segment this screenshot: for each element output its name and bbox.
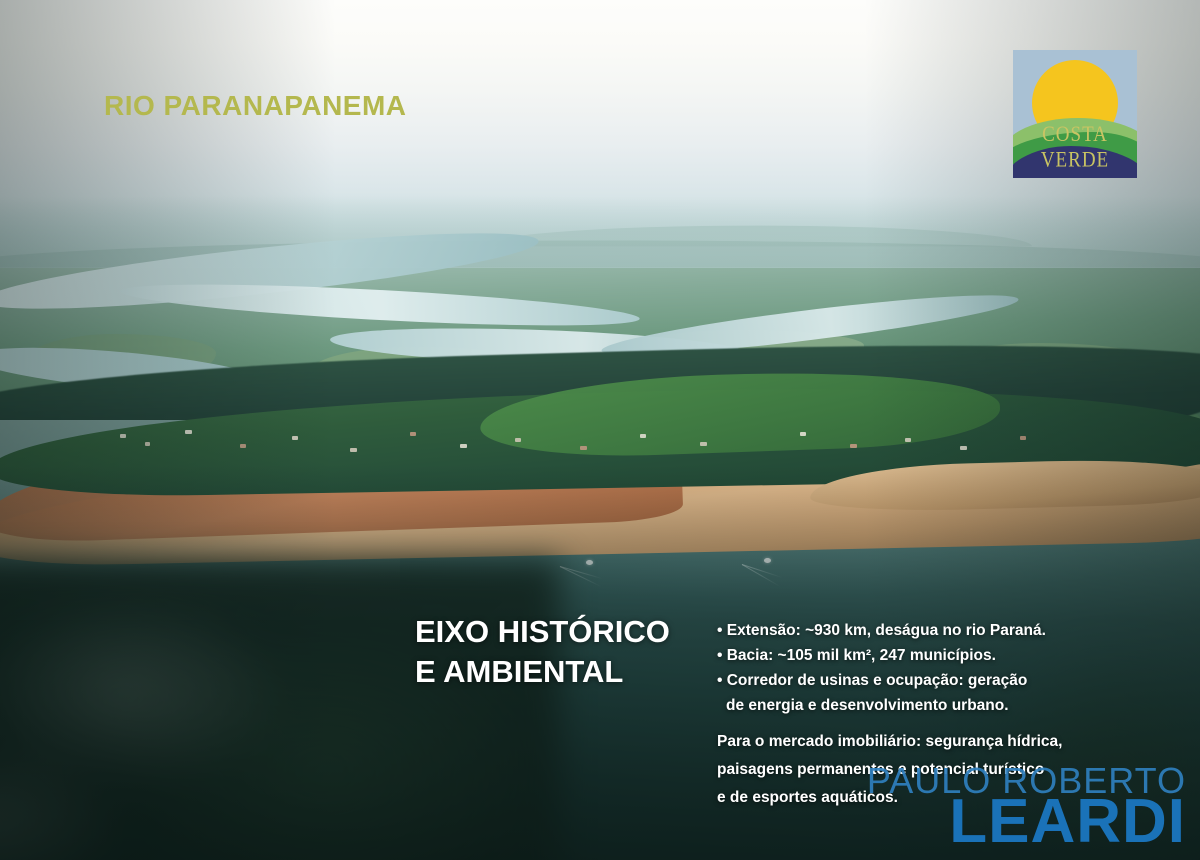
market-line-2: paisagens permanentes e potencial turíst… (717, 756, 1062, 784)
list-item-continuation: de energia e desenvolvimento urbano. (717, 693, 1046, 718)
costa-verde-logo[interactable]: COSTA VERDE (1013, 50, 1137, 178)
market-paragraph: Para o mercado imobiliário: segurança hí… (717, 728, 1062, 813)
page-title: RIO PARANAPANEMA (104, 90, 407, 122)
slide-rio-paranapanema: RIO PARANAPANEMA COSTA VERDE EIXO HISTÓR… (0, 0, 1200, 860)
facts-list: • Extensão: ~930 km, deságua no rio Para… (717, 618, 1046, 718)
logo-wordmark: COSTA VERDE (1013, 123, 1137, 174)
list-item: • Bacia: ~105 mil km², 247 municípios. (717, 643, 1046, 668)
headline-line-1: EIXO HISTÓRICO (415, 612, 670, 652)
headline-line-2: E AMBIENTAL (415, 652, 670, 692)
list-item: • Extensão: ~930 km, deságua no rio Para… (717, 618, 1046, 643)
market-line-1: Para o mercado imobiliário: segurança hí… (717, 728, 1062, 756)
list-item: • Corredor de usinas e ocupação: geração (717, 668, 1046, 693)
headline-block: EIXO HISTÓRICO E AMBIENTAL (415, 612, 670, 691)
market-line-3: e de esportes aquáticos. (717, 784, 1062, 812)
